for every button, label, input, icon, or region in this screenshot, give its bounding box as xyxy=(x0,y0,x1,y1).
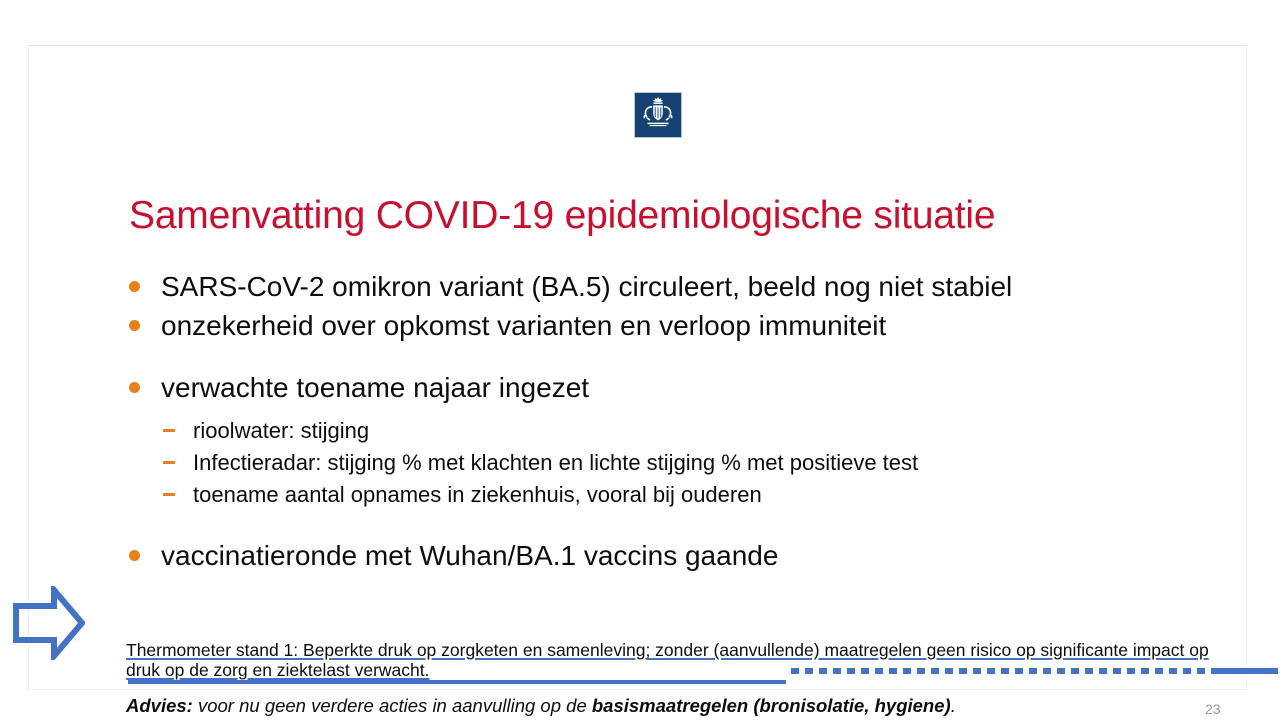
slide-canvas: Samenvatting COVID-19 epidemiologische s… xyxy=(28,45,1247,690)
sub-list-item-label: toename aantal opnames in ziekenhuis, vo… xyxy=(193,482,762,507)
advice-line: Advies: voor nu geen verdere acties in a… xyxy=(126,694,1186,718)
bullet-dot-icon xyxy=(129,382,140,393)
sub-list-item-label: rioolwater: stijging xyxy=(193,418,369,443)
sub-list-item: toename aantal opnames in ziekenhuis, vo… xyxy=(125,479,1255,511)
list-item-label: onzekerheid over opkomst varianten en ve… xyxy=(161,310,886,341)
bullet-dash-icon xyxy=(163,461,175,464)
advice-tail: . xyxy=(951,695,956,716)
thermometer-status-block: Thermometer stand 1: Beperkte druk op zo… xyxy=(126,640,1236,680)
blue-dotted-line-end-annotation xyxy=(1215,668,1278,674)
blue-right-arrow-annotation xyxy=(13,586,85,660)
rijksoverheid-coat-of-arms-logo xyxy=(634,92,682,138)
sub-list-item: Infectieradar: stijging % met klachten e… xyxy=(125,447,1255,479)
advice-body: voor nu geen verdere acties in aanvullin… xyxy=(193,695,592,716)
blue-dotted-line-annotation xyxy=(791,668,1278,674)
thermometer-status-text: Thermometer stand 1: Beperkte druk op zo… xyxy=(126,640,1236,680)
list-item: SARS-CoV-2 omikron variant (BA.5) circul… xyxy=(125,268,1255,306)
list-item-label: SARS-CoV-2 omikron variant (BA.5) circul… xyxy=(161,271,1012,302)
blue-underline-annotation xyxy=(128,680,786,684)
bullet-dash-icon xyxy=(163,429,175,432)
page-title: Samenvatting COVID-19 epidemiologische s… xyxy=(129,192,1249,240)
sub-list-item: rioolwater: stijging xyxy=(125,415,1255,447)
list-item: onzekerheid over opkomst varianten en ve… xyxy=(125,307,1255,345)
bullet-dot-icon xyxy=(129,281,140,292)
list-item: vaccinatieronde met Wuhan/BA.1 vaccins g… xyxy=(125,537,1255,575)
list-item-label: verwachte toename najaar ingezet xyxy=(161,372,589,403)
bullet-dash-icon xyxy=(163,493,175,496)
sub-list-item-label: Infectieradar: stijging % met klachten e… xyxy=(193,450,918,475)
bullet-dot-icon xyxy=(129,320,140,331)
page-number: 23 xyxy=(1205,701,1221,717)
list-item-label: vaccinatieronde met Wuhan/BA.1 vaccins g… xyxy=(161,540,778,571)
advice-label: Advies: xyxy=(126,695,193,716)
bullet-dot-icon xyxy=(129,550,140,561)
bullet-list: SARS-CoV-2 omikron variant (BA.5) circul… xyxy=(125,268,1255,576)
advice-emphasis: basismaatregelen (bronisolatie, hygiene) xyxy=(592,695,951,716)
list-item: verwachte toename najaar ingezet xyxy=(125,369,1255,407)
